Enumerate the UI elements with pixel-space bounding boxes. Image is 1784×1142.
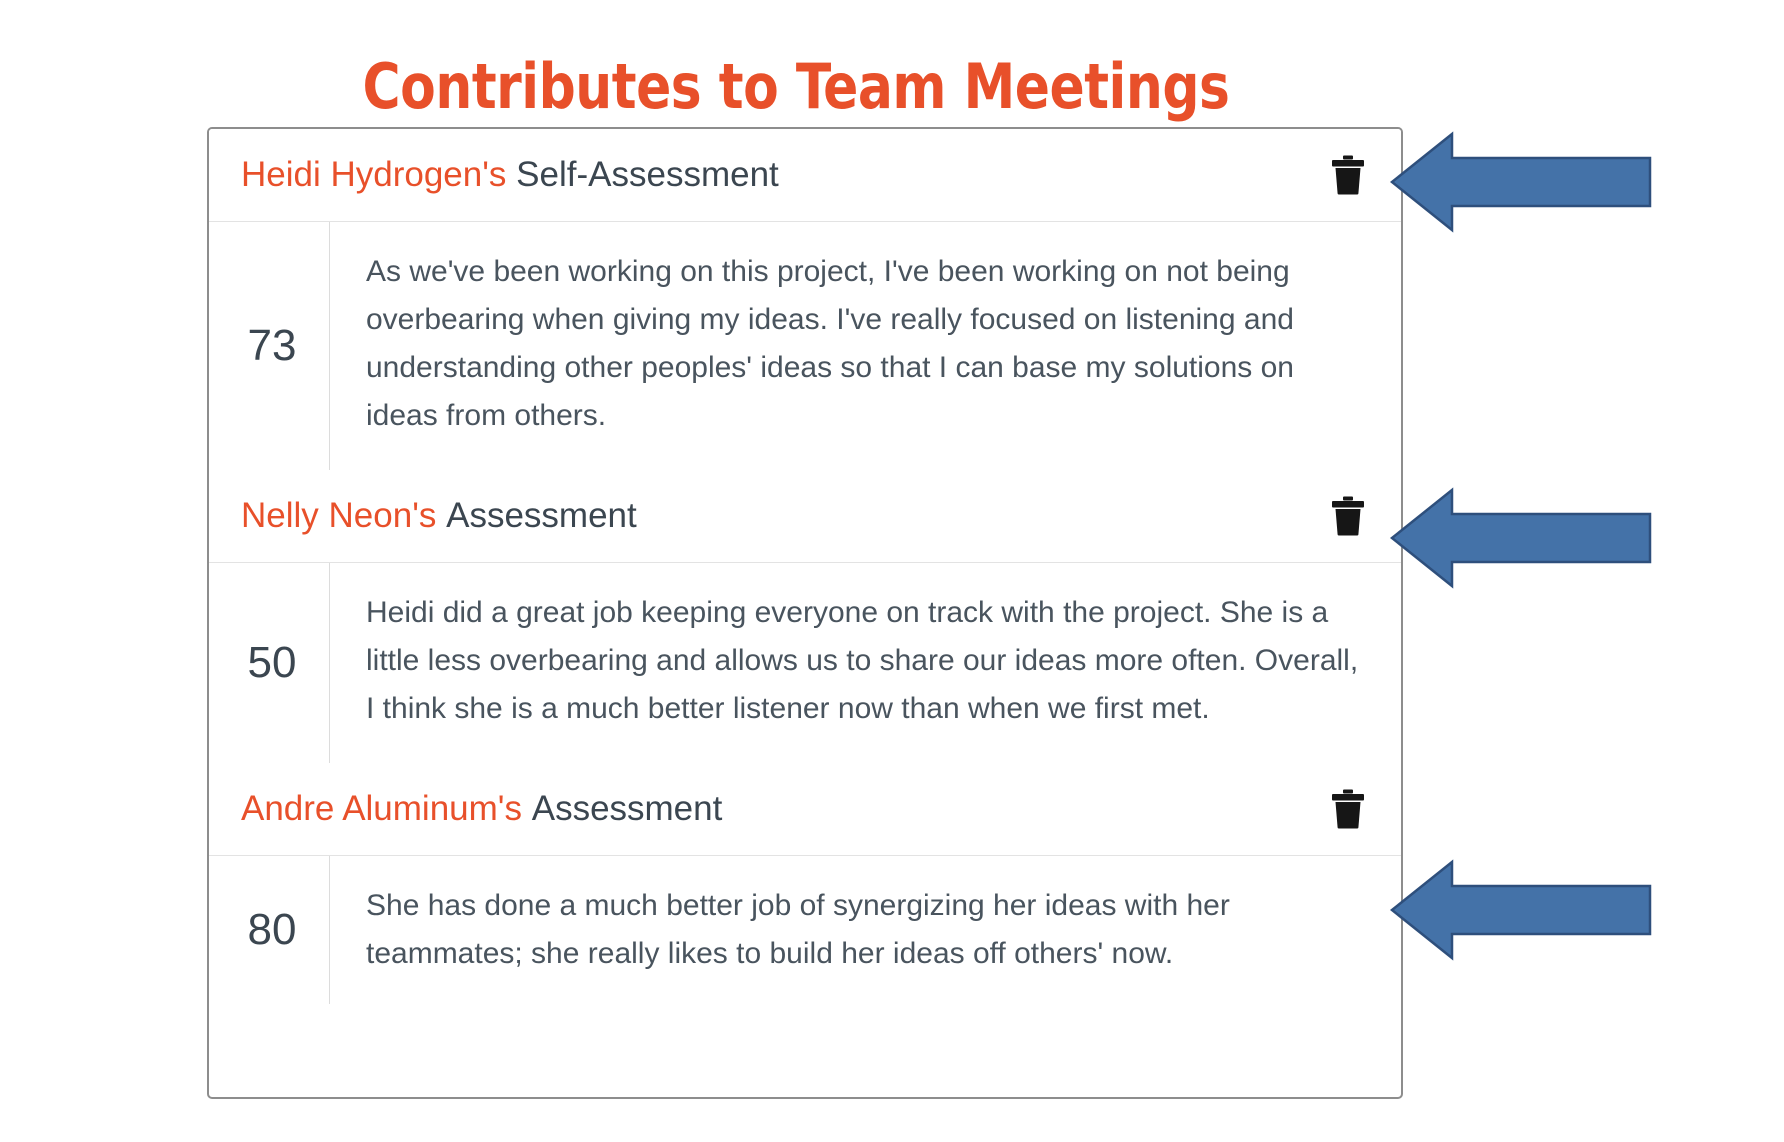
assessment-title: Andre Aluminum's Assessment — [241, 789, 722, 829]
delete-button-heidi-hydrogen[interactable] — [1326, 149, 1370, 201]
score-value: 50 — [248, 639, 297, 687]
assessment-header: Nelly Neon's Assessment — [209, 470, 1401, 563]
assessment-header: Heidi Hydrogen's Self-Assessment — [209, 129, 1401, 222]
score-cell: 80 — [209, 856, 329, 1004]
assessment-title: Nelly Neon's Assessment — [241, 496, 637, 536]
assessment-header: Andre Aluminum's Assessment — [209, 763, 1401, 856]
score-value: 80 — [248, 906, 297, 954]
comment-text: As we've been working on this project, I… — [366, 248, 1361, 440]
annotation-arrow-left-icon — [1390, 484, 1652, 592]
assessment-kind: Assessment — [532, 789, 723, 828]
assessment-title: Heidi Hydrogen's Self-Assessment — [241, 155, 779, 195]
assessment-kind: Self-Assessment — [516, 155, 779, 194]
assessments-panel: Heidi Hydrogen's Self-Assessment 73 — [207, 127, 1403, 1099]
assessment-owner: Nelly Neon's — [241, 496, 436, 535]
annotation-arrow-left-icon — [1390, 856, 1652, 964]
score-cell: 73 — [209, 222, 329, 470]
score-value: 73 — [248, 322, 297, 370]
trash-icon — [1331, 789, 1365, 829]
trash-icon — [1331, 155, 1365, 195]
comment-cell: Heidi did a great job keeping everyone o… — [329, 563, 1401, 763]
trash-icon — [1331, 496, 1365, 536]
score-cell: 50 — [209, 563, 329, 763]
delete-button-andre-aluminum[interactable] — [1326, 783, 1370, 835]
annotation-arrow-left-icon — [1390, 128, 1652, 236]
assessment-block: Andre Aluminum's Assessment 80 — [209, 763, 1401, 1004]
assessment-owner: Andre Aluminum's — [241, 789, 522, 828]
delete-button-nelly-neon[interactable] — [1326, 490, 1370, 542]
comment-text: She has done a much better job of synerg… — [366, 882, 1361, 978]
page-root: Contributes to Team Meetings Heidi Hydro… — [0, 0, 1784, 1142]
assessment-block: Heidi Hydrogen's Self-Assessment 73 — [209, 129, 1401, 470]
comment-cell: She has done a much better job of synerg… — [329, 856, 1401, 1004]
assessment-block: Nelly Neon's Assessment 50 — [209, 470, 1401, 763]
assessment-owner: Heidi Hydrogen's — [241, 155, 506, 194]
assessment-body: 50 Heidi did a great job keeping everyon… — [209, 563, 1401, 763]
comment-cell: As we've been working on this project, I… — [329, 222, 1401, 470]
assessment-body: 80 She has done a much better job of syn… — [209, 856, 1401, 1004]
assessment-body: 73 As we've been working on this project… — [209, 222, 1401, 470]
comment-text: Heidi did a great job keeping everyone o… — [366, 589, 1361, 733]
assessment-kind: Assessment — [446, 496, 637, 535]
page-title: Contributes to Team Meetings — [229, 48, 1364, 126]
